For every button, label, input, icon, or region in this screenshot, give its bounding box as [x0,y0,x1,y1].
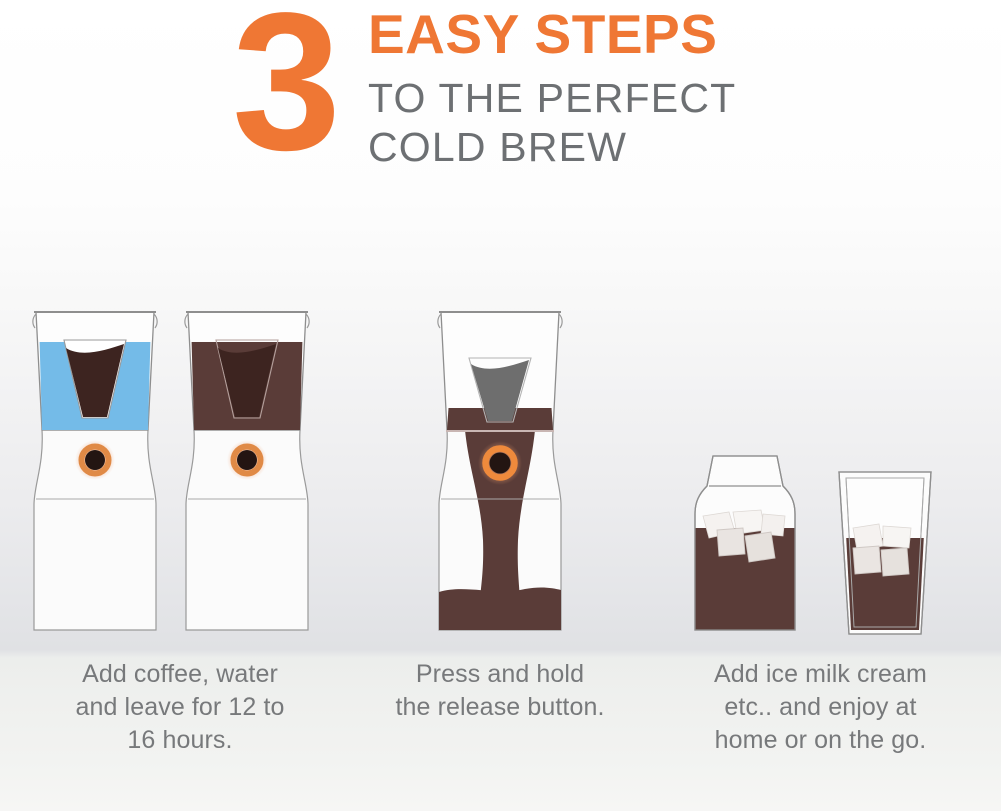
rim-hook-right [306,314,309,328]
caption-line: Press and hold [350,658,650,691]
two-carafes-svg [30,300,330,650]
caption-line: etc.. and enjoy at [650,691,991,724]
infographic-page: 3 EASY STEPS TO THE PERFECT COLD BREW [0,0,1001,811]
rim-hook-left [33,314,36,328]
carafe-release-svg [425,300,575,650]
step-press-and-hold-release: Press and hold the release button. [350,300,650,780]
steps-row: Add coffee, water and leave for 12 to 16… [0,300,1001,811]
subtitle-line-2: COLD BREW [368,123,928,172]
step-caption: Press and hold the release button. [350,658,650,724]
bottle-glass-svg [671,300,971,650]
bottle-coffee-fill [693,528,797,632]
step-count-number: 3 [232,0,337,180]
subtitle-line-1: TO THE PERFECT [368,74,928,123]
rim-hook-right [154,314,157,328]
caption-line: 16 hours. [10,724,350,757]
release-button-core[interactable] [490,453,511,474]
header: 3 EASY STEPS TO THE PERFECT COLD BREW [0,0,1001,190]
release-button-core[interactable] [237,450,257,470]
carafe-steeped [185,312,309,630]
illustration-carafe-releasing-brew [350,300,650,650]
caption-line: and leave for 12 to [10,691,350,724]
caption-line: Add coffee, water [10,658,350,691]
carafe-dispensing [438,312,562,630]
glass-with-ice [839,472,931,634]
ice-cube [853,546,881,574]
rim-hook-left [185,314,188,328]
step-caption: Add coffee, water and leave for 12 to 16… [10,658,350,757]
caption-line: Add ice milk cream [650,658,991,691]
rim-hook-left [438,314,441,328]
release-button-core[interactable] [85,450,105,470]
headline: EASY STEPS [368,6,928,62]
carafe-with-water [33,312,157,630]
illustration-two-carafes-brewing [10,300,350,650]
ice-cube [717,528,745,556]
ice-cube [881,548,909,576]
step-caption: Add ice milk cream etc.. and enjoy at ho… [650,658,991,757]
rim-hook-right [559,314,562,328]
illustration-bottle-and-glass [650,300,991,650]
ice-cube [883,526,911,548]
ice-cube [745,532,775,562]
step-add-coffee-and-water: Add coffee, water and leave for 12 to 16… [10,300,350,780]
caption-line: home or on the go. [650,724,991,757]
caption-line: the release button. [350,691,650,724]
title-block: EASY STEPS TO THE PERFECT COLD BREW [368,6,928,172]
bottle-with-ice [693,456,797,632]
step-serve-over-ice: Add ice milk cream etc.. and enjoy at ho… [650,300,991,780]
